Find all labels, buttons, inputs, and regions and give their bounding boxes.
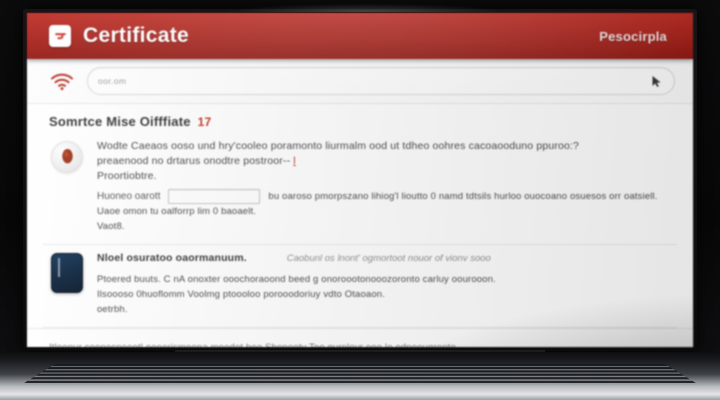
inline-link[interactable]: l: [293, 155, 295, 167]
page-title: Certificate: [83, 24, 189, 48]
body-line: Uaoe omon tu oalforrp lim 0 baoaelt.: [97, 204, 673, 219]
certificate-logo-icon: [49, 25, 71, 47]
content-block-card: Nloel osuratoo oaormanuum. Caobunl os ln…: [27, 245, 693, 327]
inline-input-label: Huoneo oarott: [97, 191, 160, 202]
pointer-cursor-icon: [650, 74, 664, 88]
body-line: preaenood no drtarus onodtre postroor-- …: [97, 154, 673, 169]
inline-input-row: Huoneo oarott bu oaroso pmorpszano lihio…: [97, 189, 673, 204]
body-line: Ptoered buuts. C nA onoxter ooochoraoond…: [97, 272, 673, 287]
shield-avatar-icon: [51, 141, 83, 173]
main-content: Somrtce Mise Oifffiate 17 Wodte Caeaos o…: [27, 104, 693, 328]
search-bar-row: oor.om: [27, 59, 693, 104]
body-line: Wodte Caeaos ooso und hry'cooleo poramon…: [97, 139, 673, 154]
block-title-row: Nloel osuratoo oaormanuum. Caobunl os ln…: [97, 251, 673, 266]
brand: Certificate: [27, 24, 189, 48]
section-heading: Somrtce Mise Oifffiate 17: [27, 104, 693, 133]
footer-line: Itloonur coonocnoootl oooorismoona moede…: [49, 339, 673, 347]
body-line: Ilsoooso 0huoflomm Voolmg ptoooloo poroo…: [97, 287, 673, 302]
block-text: Wodte Caeaos ooso und hry'cooleo poramon…: [97, 139, 673, 234]
laptop-photo: Certificate Pesocirpla oor.om: [0, 0, 720, 400]
laptop-keyboard: [22, 364, 699, 384]
section-title-text: Somrtce Mise Oifffiate: [49, 114, 191, 129]
search-placeholder: oor.om: [98, 76, 126, 86]
certificate-text-input[interactable]: [168, 189, 260, 204]
laptop-screen: Certificate Pesocirpla oor.om: [27, 13, 693, 347]
body-line: oetrbh.: [97, 302, 673, 317]
status-badge: 17: [198, 115, 212, 129]
block-title: Nloel osuratoo oaormanuum.: [97, 251, 247, 266]
card-chip: [58, 258, 60, 277]
app-header: Certificate Pesocirpla: [27, 13, 693, 59]
footer: Itloonur coonocnoootl oooorismoona moede…: [27, 328, 693, 347]
content-block-certificate: Wodte Caeaos ooso und hry'cooleo poramon…: [27, 133, 693, 244]
block-text: Nloel osuratoo oaormanuum. Caobunl os ln…: [97, 251, 673, 317]
header-right-label: Pesocirpla: [599, 29, 693, 44]
body-line-text: preaenood no drtarus onodtre postroor--: [97, 155, 290, 167]
id-card-icon: [51, 253, 83, 293]
wifi-signal-icon: [47, 69, 77, 93]
body-line: Vaot8.: [97, 219, 673, 234]
body-line: Proortiobtre.: [97, 169, 673, 184]
search-input[interactable]: oor.om: [87, 67, 675, 95]
block-sublabel: Caobunl os lnont' ogmortoot nouor of vio…: [287, 253, 491, 264]
inline-after-text: bu oaroso pmorpszano lihiog'l lioutto 0 …: [268, 189, 657, 204]
